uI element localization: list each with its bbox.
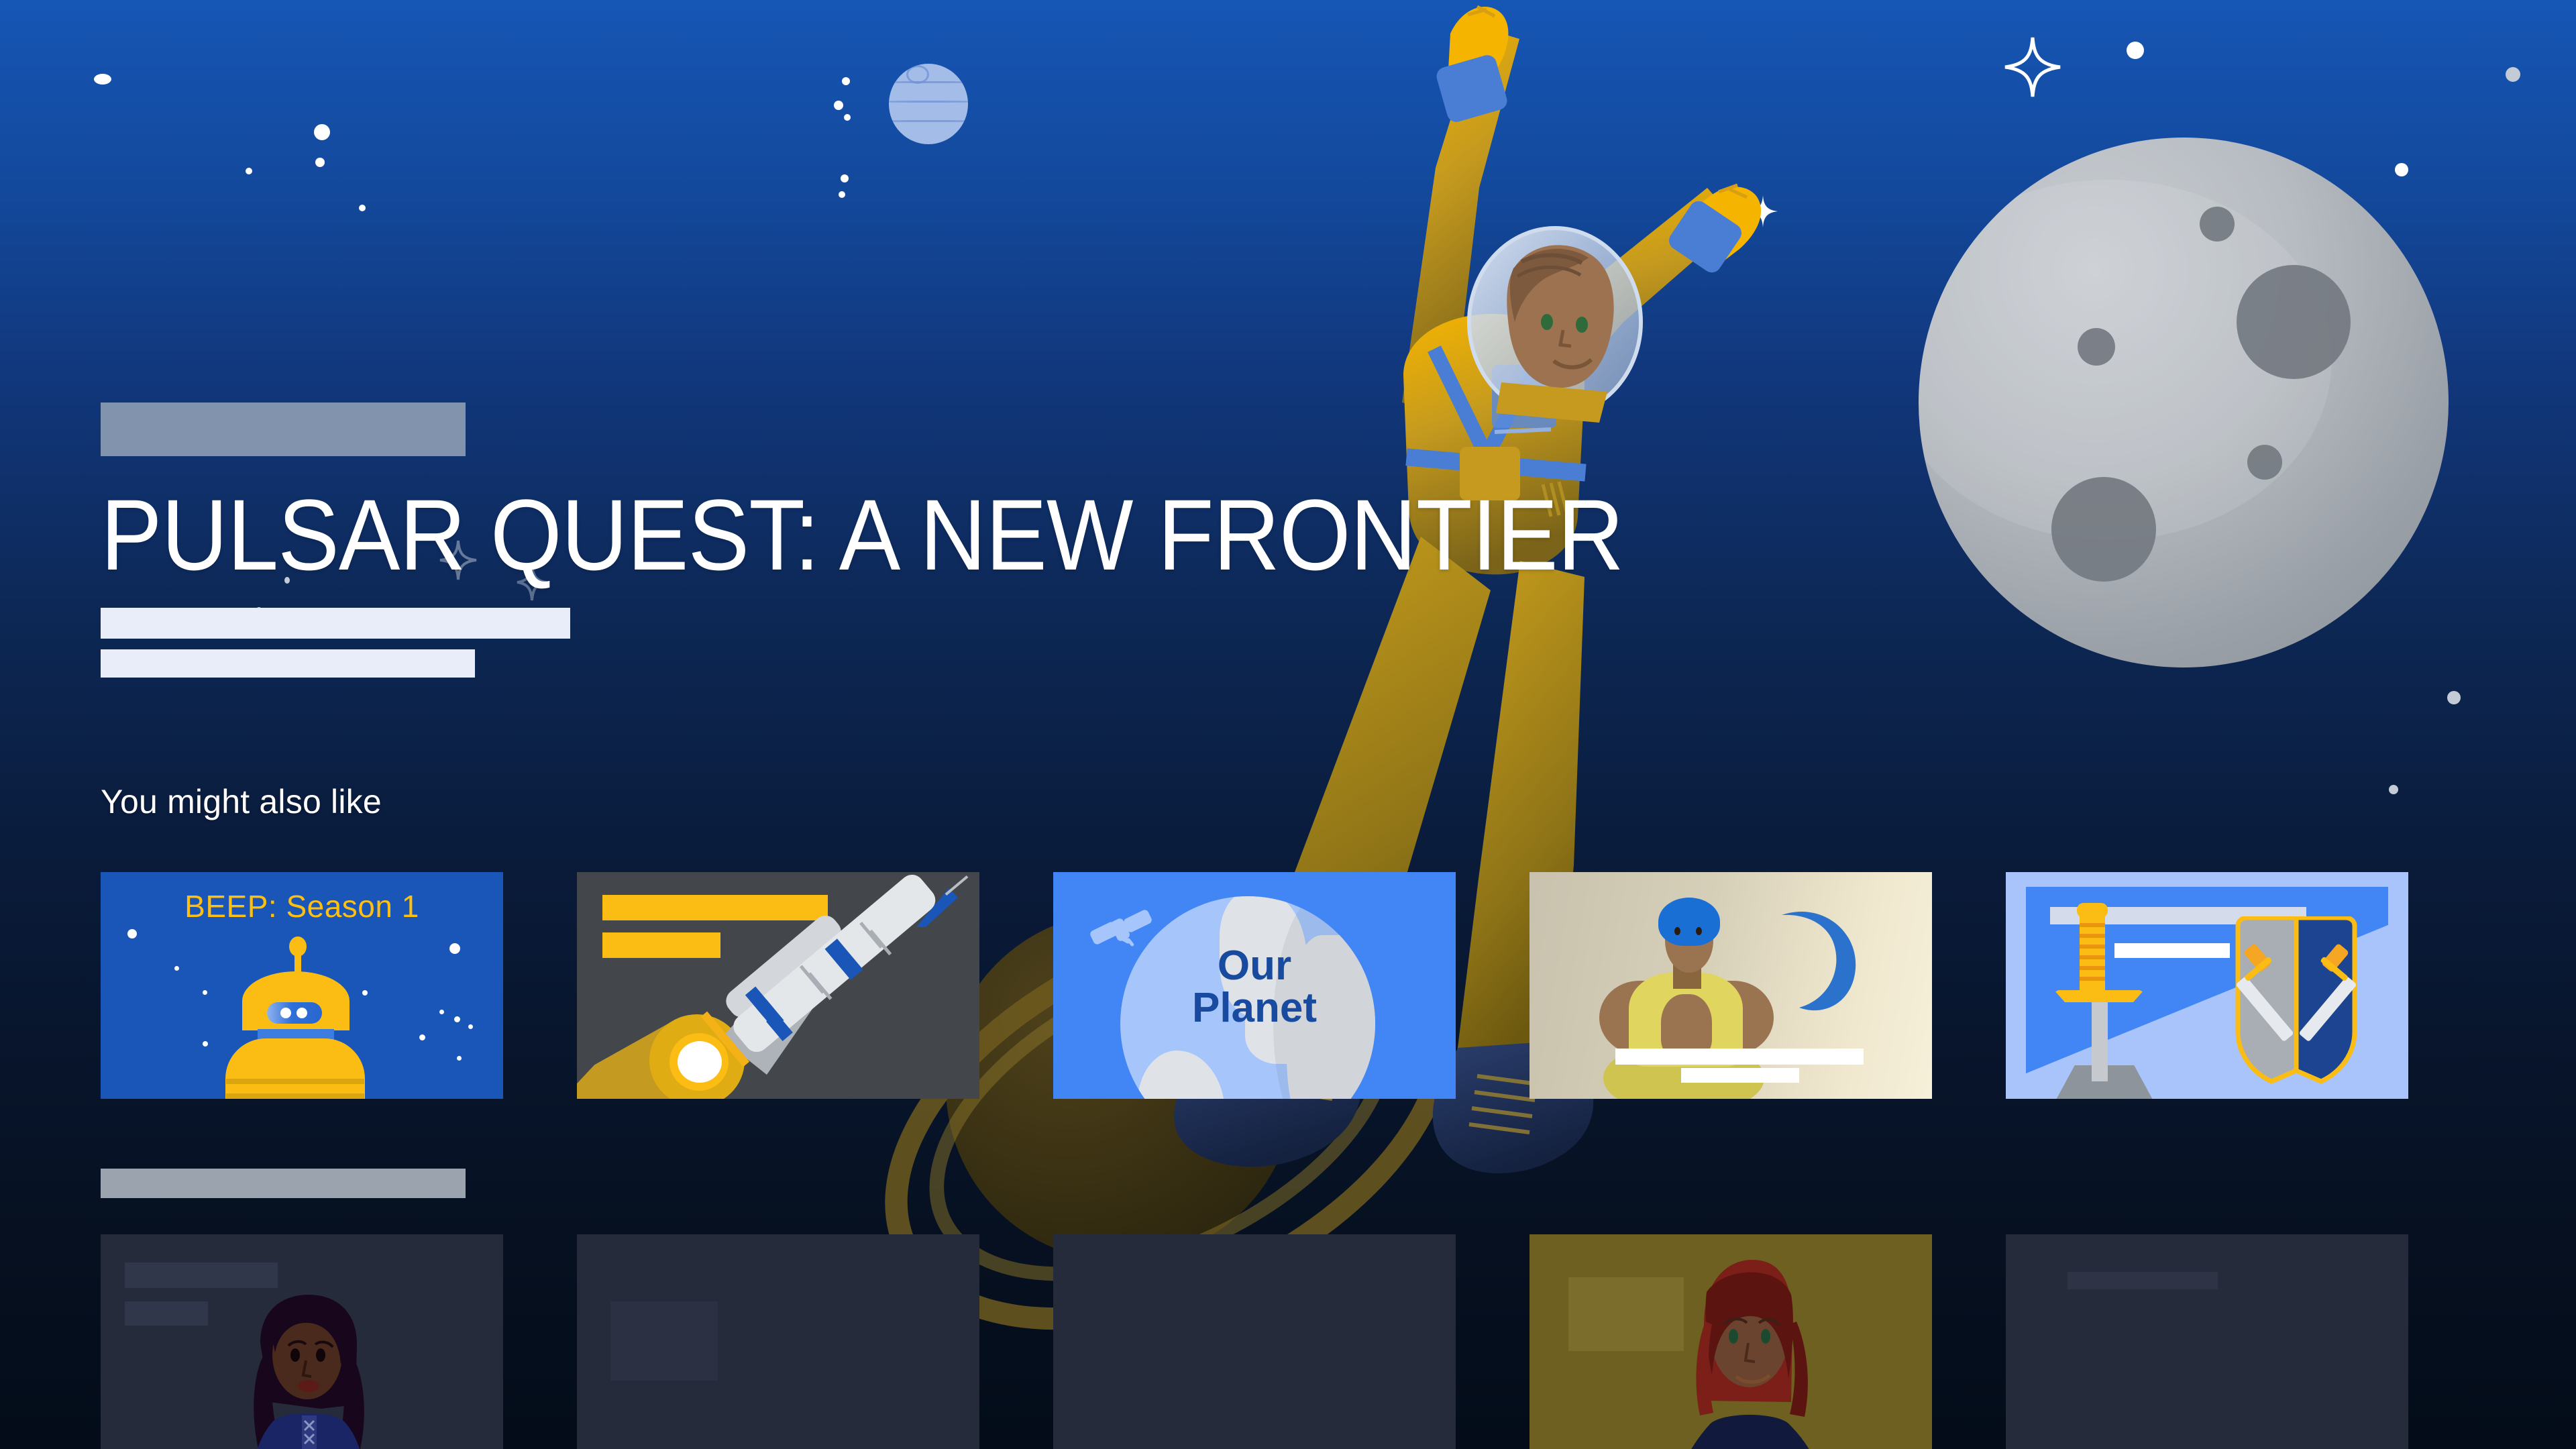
card-rocket-launch[interactable] xyxy=(577,872,979,1099)
subtitle-placeholder-bar-1 xyxy=(101,608,570,639)
card-sword-and-shield[interactable] xyxy=(2006,872,2408,1099)
card-placeholder-bar xyxy=(125,1301,208,1326)
star-icon xyxy=(457,1056,462,1061)
star-icon xyxy=(839,191,845,198)
star-icon xyxy=(449,943,460,954)
turban-icon xyxy=(1658,898,1720,946)
star-icon xyxy=(315,158,325,167)
star-icon xyxy=(203,990,207,995)
shield-icon xyxy=(2233,916,2360,1084)
sword-crossguard xyxy=(2054,990,2144,1002)
meditation-eye xyxy=(1674,927,1680,935)
robot-body-icon xyxy=(225,1038,365,1099)
card-our-planet[interactable]: OurPlanet xyxy=(1053,872,1456,1099)
crater-icon xyxy=(2237,265,2351,379)
subtitle-placeholder-bar-2 xyxy=(101,649,475,678)
card-faded-1[interactable] xyxy=(101,1234,503,1449)
card-placeholder-bar xyxy=(2068,1272,2218,1289)
star-icon xyxy=(246,168,252,174)
card-faded-5[interactable] xyxy=(2006,1234,2408,1449)
robot-visor-icon xyxy=(267,1002,322,1024)
card-title-our-planet: OurPlanet xyxy=(1053,945,1456,1029)
sword-grip-ring xyxy=(2080,934,2105,938)
meditation-eye xyxy=(1696,927,1702,935)
rocket-flame-core xyxy=(678,1041,722,1083)
star-icon xyxy=(362,990,368,996)
card-title-beep: BEEP: Season 1 xyxy=(101,888,503,924)
screen-root: PULSAR QUEST: A NEW FRONTIER You might a… xyxy=(0,0,2576,1449)
card-placeholder-bar xyxy=(610,1301,718,1381)
sword-grip-ring xyxy=(2080,945,2105,949)
card-faded-4[interactable] xyxy=(1529,1234,1932,1449)
card-placeholder-bar xyxy=(125,1263,278,1288)
star-icon xyxy=(2395,163,2408,176)
card-placeholder-bar xyxy=(2114,943,2230,958)
star-icon xyxy=(842,77,850,85)
star-icon xyxy=(2389,785,2398,794)
star-icon xyxy=(454,1016,460,1022)
robot-eye-icon xyxy=(280,1008,291,1018)
row-label-you-might-also-like: You might also like xyxy=(101,782,382,821)
page-title: PULSAR QUEST: A NEW FRONTIER xyxy=(101,484,1942,585)
card-placeholder-bar xyxy=(602,932,720,958)
star-icon xyxy=(359,205,366,211)
card-meditation-moon[interactable] xyxy=(1529,872,1932,1099)
star-icon xyxy=(2506,67,2520,82)
person-illustration xyxy=(1648,1252,1849,1449)
star-icon xyxy=(419,1034,425,1040)
card-faded-3[interactable] xyxy=(1053,1234,1456,1449)
sparkle-star-icon xyxy=(2004,36,2061,98)
card-placeholder-bar xyxy=(1615,1049,1864,1065)
robot-body-stripe xyxy=(226,1093,364,1099)
star-icon xyxy=(844,114,851,121)
star-icon xyxy=(834,101,843,110)
card-beep-season-1[interactable]: BEEP: Season 1 xyxy=(101,872,503,1099)
satellite-icon xyxy=(1091,911,1151,951)
crater-icon xyxy=(2078,328,2115,366)
sword-grip-ring xyxy=(2080,955,2105,959)
star-icon xyxy=(203,1041,208,1046)
rocket-spike xyxy=(945,875,969,896)
hero-block: PULSAR QUEST: A NEW FRONTIER xyxy=(101,402,2113,678)
star-icon xyxy=(314,124,330,140)
sword-grip-ring xyxy=(2080,966,2105,970)
eyebrow-placeholder-bar xyxy=(101,402,466,456)
card-faded-2[interactable] xyxy=(577,1234,979,1449)
star-icon xyxy=(2127,42,2144,59)
row-label-placeholder-bar xyxy=(101,1169,466,1198)
card-placeholder-bar xyxy=(602,895,828,920)
robot-body-stripe xyxy=(226,1079,364,1084)
star-icon xyxy=(468,1024,473,1029)
person-illustration xyxy=(208,1291,402,1449)
sword-grip-ring xyxy=(2080,977,2105,981)
star-icon xyxy=(439,1010,444,1014)
landmass xyxy=(1138,1051,1225,1099)
crescent-moon-icon xyxy=(1758,906,1858,1013)
crater-icon xyxy=(2247,445,2282,480)
sword-grip-ring xyxy=(2080,923,2105,927)
star-icon xyxy=(94,74,111,85)
star-icon xyxy=(127,929,137,938)
robot-eye-icon xyxy=(297,1008,307,1018)
star-icon xyxy=(2447,691,2461,704)
crater-icon xyxy=(2200,207,2235,241)
star-icon xyxy=(174,966,179,971)
card-placeholder-bar xyxy=(1681,1068,1799,1083)
star-icon xyxy=(841,174,849,182)
sword-pommel xyxy=(2077,903,2108,918)
sword-blade xyxy=(2092,997,2108,1081)
